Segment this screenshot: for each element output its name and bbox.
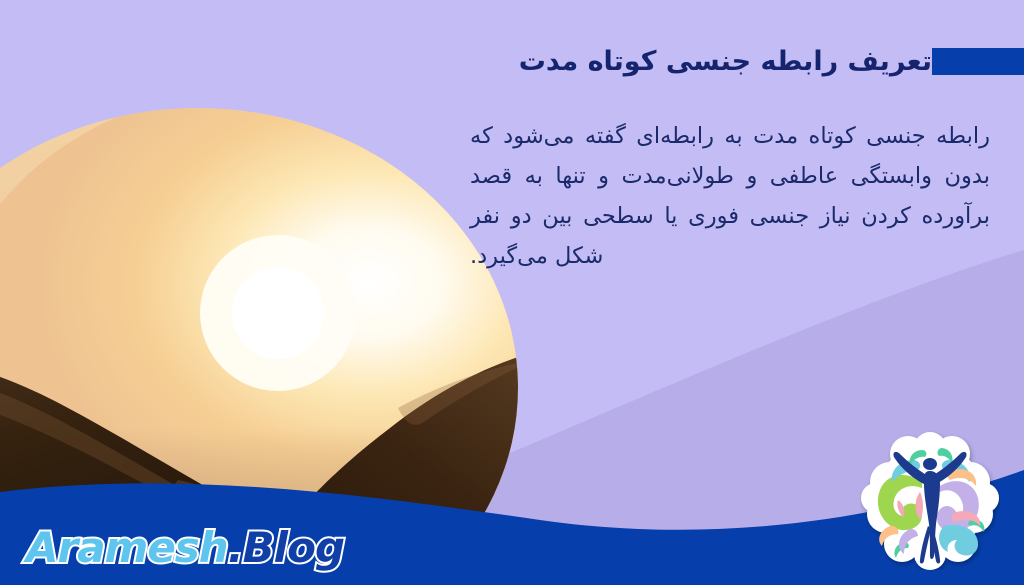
page-title: تعریف رابطه جنسی کوتاه مدت (519, 46, 932, 77)
title-row: تعریف رابطه جنسی کوتاه مدت (501, 46, 1024, 77)
body-paragraph: رابطه جنسی کوتاه مدت به رابطه‌ای گفته می… (470, 116, 990, 276)
infographic-canvas: تعریف رابطه جنسی کوتاه مدت رابطه جنسی کو… (0, 0, 1024, 585)
wordmark-blog: .Blog (228, 523, 344, 572)
site-wordmark[interactable]: Aramesh.Blog (26, 527, 344, 569)
wordmark-aramesh: Aramesh (26, 523, 228, 572)
title-accent-bar (932, 48, 1024, 75)
aramesh-floral-person-logo[interactable] (860, 430, 1000, 570)
body-paragraph-block: رابطه جنسی کوتاه مدت به رابطه‌ای گفته می… (470, 116, 990, 276)
logo-artwork (860, 430, 1000, 570)
